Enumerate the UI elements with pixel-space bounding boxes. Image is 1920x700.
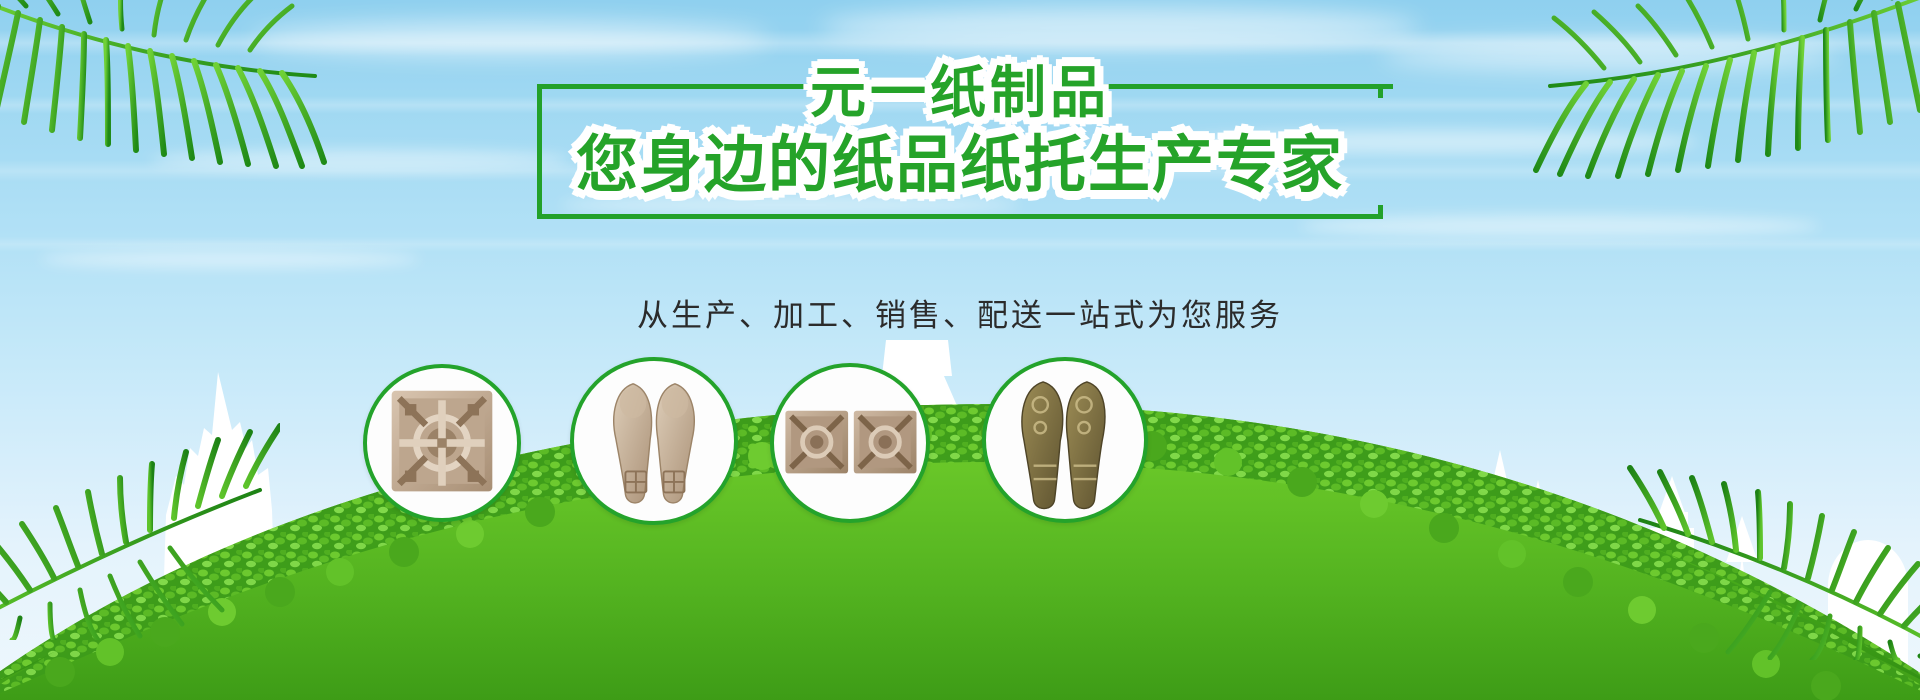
- pulp-shoe-dark-icon: [986, 361, 1144, 519]
- headline-frame: 元一纸制品 您身边的纸品纸托生产专家: [537, 84, 1383, 219]
- frame-right-stub-top: [1378, 84, 1383, 98]
- pulp-shoe-insert-icon: [574, 361, 734, 521]
- brand-title: 元一纸制品: [784, 61, 1136, 127]
- pulp-tray-square-icon: [367, 368, 517, 518]
- product-circle-dark-pulp-shoes[interactable]: [982, 357, 1148, 523]
- frame-rule-segment: [537, 84, 789, 89]
- product-circle-pulp-shoe-inserts[interactable]: [570, 357, 738, 525]
- frame-rule-segment: [1141, 84, 1393, 89]
- promo-banner: 元一纸制品 您身边的纸品纸托生产专家 从生产、加工、销售、配送一站式为您服务: [0, 0, 1920, 700]
- pulp-tray-twin-icon: [774, 367, 926, 519]
- product-circles: [0, 355, 1920, 555]
- frame-right-stub-bottom: [1378, 205, 1383, 219]
- headline-block: 元一纸制品 您身边的纸品纸托生产专家: [0, 84, 1920, 219]
- brand-line: 元一纸制品: [576, 61, 1344, 127]
- subtitle-text: 从生产、加工、销售、配送一站式为您服务: [0, 290, 1920, 335]
- product-circle-square-pulp-tray[interactable]: [363, 364, 521, 522]
- slogan-title: 您身边的纸品纸托生产专家: [576, 133, 1344, 200]
- product-circle-twin-pulp-trays[interactable]: [770, 363, 930, 523]
